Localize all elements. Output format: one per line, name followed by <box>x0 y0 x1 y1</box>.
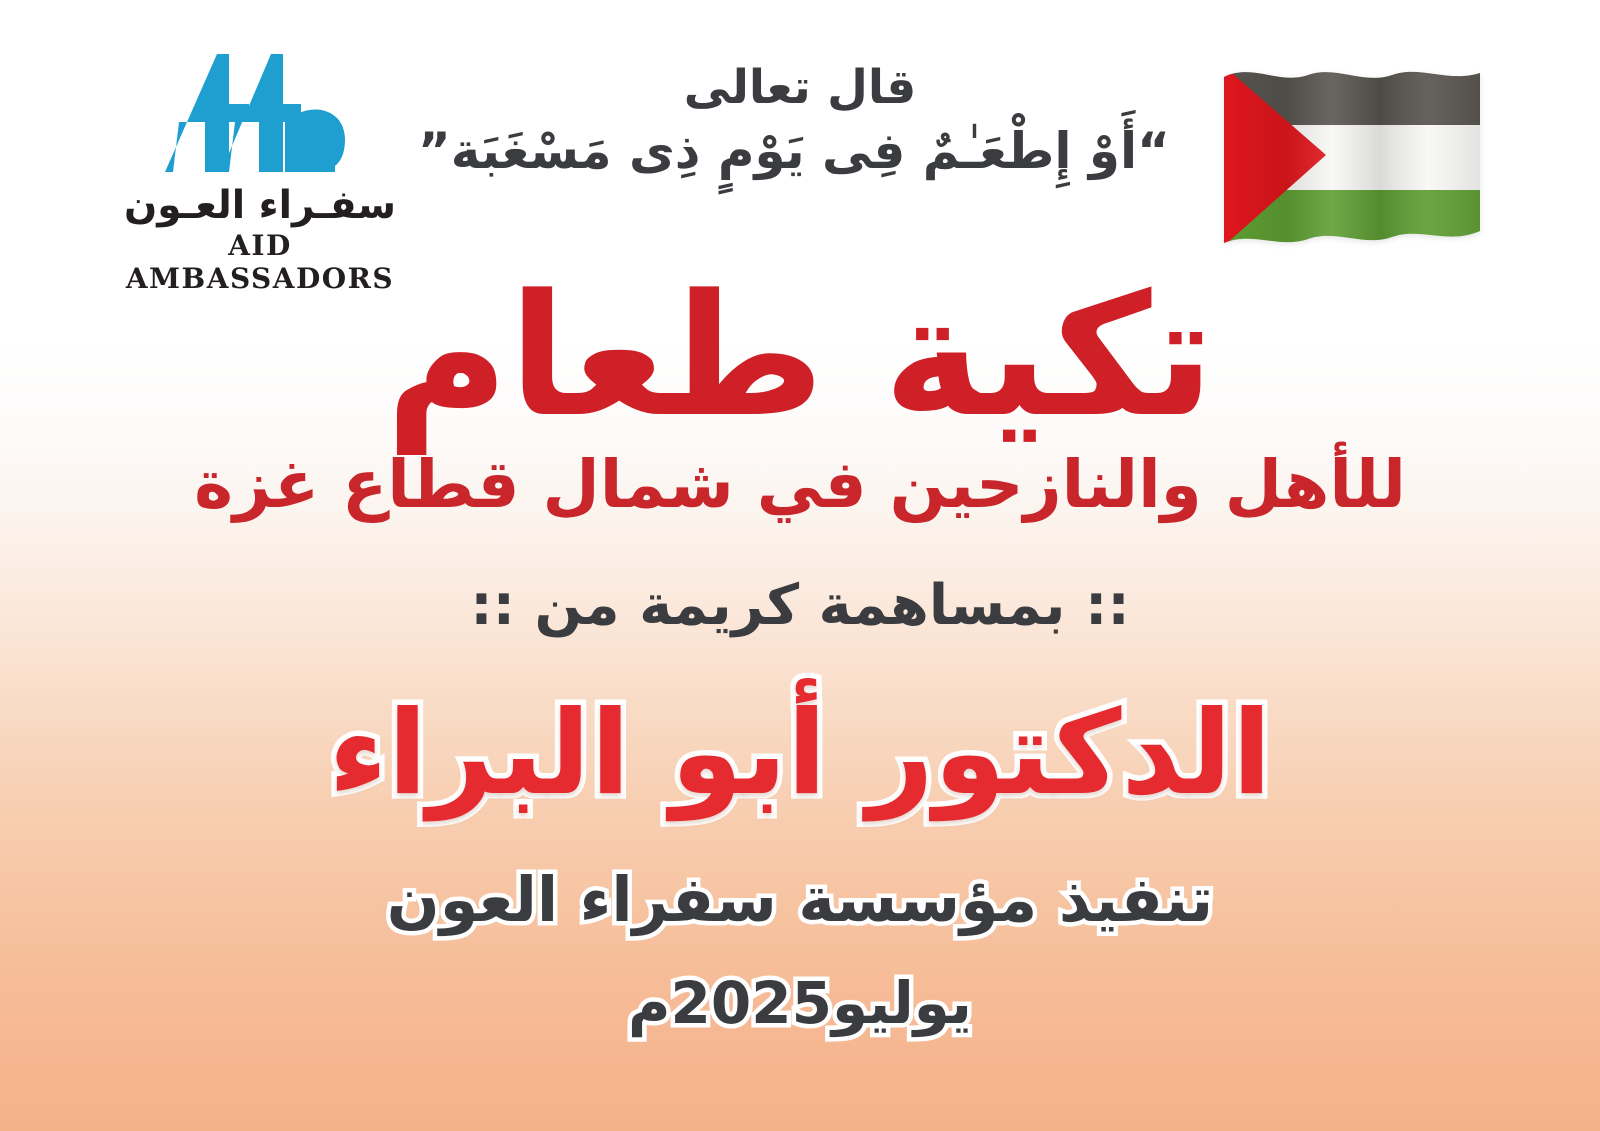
poster-header: سفـراء العـون AID AMBASSADORS قال تعالى … <box>0 0 1600 285</box>
poster-canvas: سفـراء العـون AID AMBASSADORS قال تعالى … <box>0 0 1600 1131</box>
palestine-flag-icon <box>1218 55 1488 255</box>
executor-line: تنفيذ مؤسسة سفراء العون <box>0 866 1600 934</box>
quran-verse: قال تعالى “أَوْ إِطْعَـٰمٌ فِى يَوْمٍ ذِ… <box>430 62 1170 181</box>
verse-body-text: “أَوْ إِطْعَـٰمٌ فِى يَوْمٍ ذِى مَسْغَبَ… <box>430 121 1170 181</box>
organization-logo: سفـراء العـون AID AMBASSADORS <box>95 48 425 295</box>
donor-name: الدكتور أبو البراء <box>0 686 1600 823</box>
palestine-flag <box>1218 55 1488 255</box>
date-line: يوليو2025م <box>0 972 1600 1036</box>
logo-arabic-name: سفـراء العـون <box>95 186 425 227</box>
poster-main-title: تكية طعام <box>0 272 1600 440</box>
poster-subtitle: للأهل والنازحين في شمال قطاع غزة <box>0 452 1600 518</box>
contribution-label: :: بمساهمة كريمة من :: <box>0 578 1600 634</box>
verse-intro-text: قال تعالى <box>430 62 1170 115</box>
aid-ambassadors-monogram-icon <box>165 48 355 178</box>
